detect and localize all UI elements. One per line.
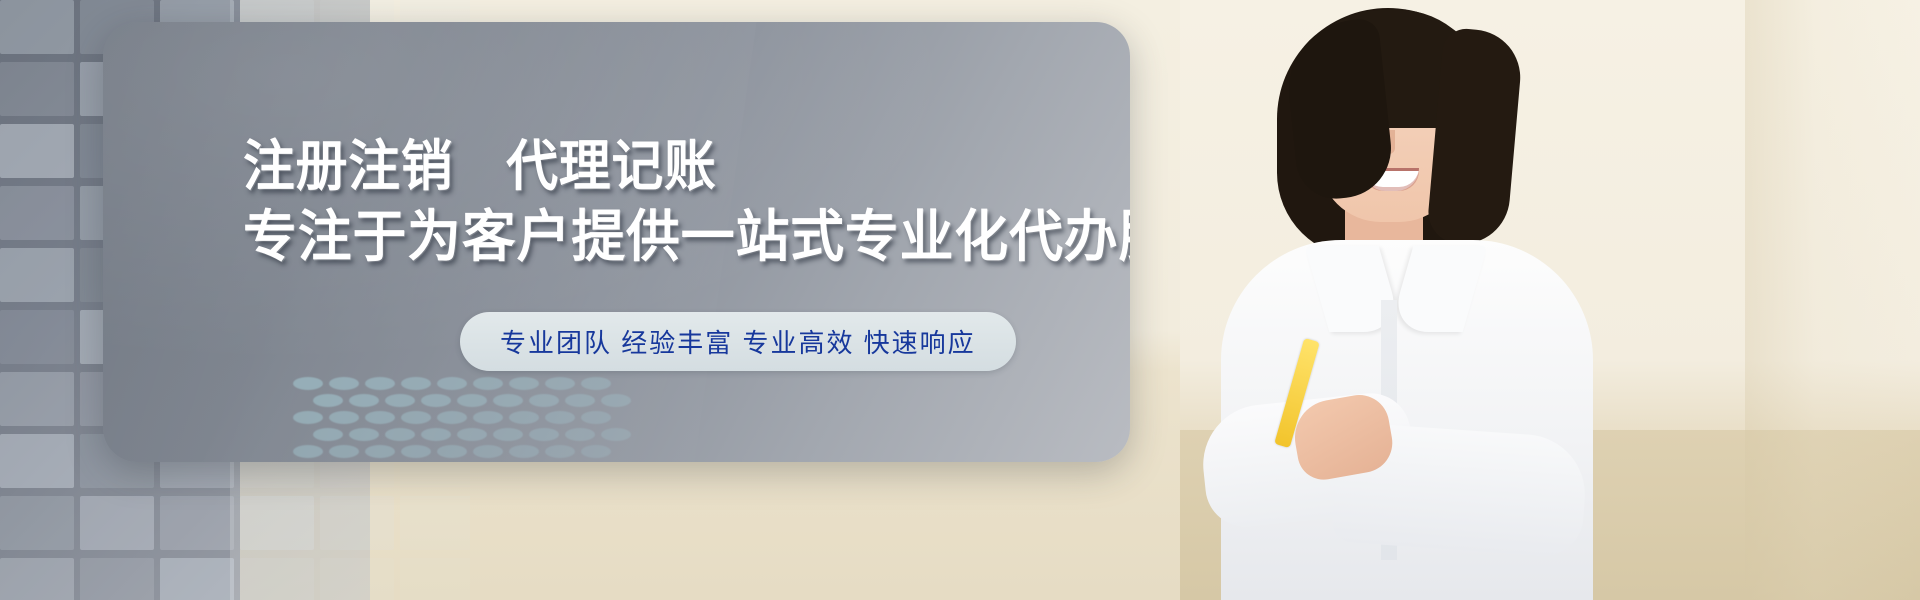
- mosaic-tile: [240, 496, 314, 550]
- decorative-dot: [313, 428, 343, 441]
- decorative-dot: [565, 394, 595, 407]
- decorative-dot: [545, 445, 575, 458]
- decorative-dot: [601, 428, 631, 441]
- promo-banner: 注册注销 代理记账 专注于为客户提供一站式专业化代办服务 专业团队 经验丰富 专…: [0, 0, 1920, 600]
- decorative-dot: [437, 411, 467, 424]
- decorative-dot: [437, 445, 467, 458]
- decorative-dot: [365, 377, 395, 390]
- mosaic-tile: [400, 558, 470, 600]
- mosaic-tile: [0, 186, 74, 240]
- decorative-dot: [385, 394, 415, 407]
- mosaic-tile: [0, 372, 74, 426]
- mosaic-tile: [160, 496, 234, 550]
- decorative-dot: [509, 445, 539, 458]
- decorative-dot: [601, 394, 631, 407]
- decorative-dot: [565, 428, 595, 441]
- mosaic-tile: [80, 496, 154, 550]
- mosaic-tile: [0, 124, 74, 178]
- decorative-dot: [457, 394, 487, 407]
- decorative-dot: [365, 445, 395, 458]
- decorative-dot: [509, 411, 539, 424]
- decorative-dot: [493, 428, 523, 441]
- headline-line-1: 注册注销 代理记账: [243, 138, 1130, 194]
- decorative-dot: [545, 411, 575, 424]
- mosaic-tile: [320, 558, 394, 600]
- decorative-dot: [473, 377, 503, 390]
- mosaic-tile: [0, 558, 74, 600]
- mosaic-tile: [0, 62, 74, 116]
- decorative-dot: [421, 394, 451, 407]
- decorative-dot: [385, 428, 415, 441]
- decorative-dot: [421, 428, 451, 441]
- tagline-pill: 专业团队 经验丰富 专业高效 快速响应: [460, 312, 1016, 371]
- headline-block: 注册注销 代理记账 专注于为客户提供一站式专业化代办服务: [243, 138, 1130, 265]
- decorative-dot: [329, 377, 359, 390]
- decorative-dot: [581, 411, 611, 424]
- mosaic-tile: [400, 496, 470, 550]
- headline-card: 注册注销 代理记账 专注于为客户提供一站式专业化代办服务 专业团队 经验丰富 专…: [103, 22, 1130, 462]
- tagline-text: 专业团队 经验丰富 专业高效 快速响应: [500, 323, 976, 360]
- decorative-dot: [313, 394, 343, 407]
- decorative-dot: [529, 428, 559, 441]
- decorative-dot: [293, 445, 323, 458]
- decorative-dot: [349, 394, 379, 407]
- mosaic-tile: [160, 558, 234, 600]
- decorative-dot: [401, 445, 431, 458]
- mosaic-tile: [0, 248, 74, 302]
- decorative-dot: [401, 411, 431, 424]
- decorative-dot: [581, 445, 611, 458]
- mosaic-tile: [320, 496, 394, 550]
- decorative-dot: [545, 377, 575, 390]
- decorative-dot: [473, 411, 503, 424]
- decorative-dot: [329, 411, 359, 424]
- headline-line-2: 专注于为客户提供一站式专业化代办服务: [243, 208, 1130, 265]
- businesswoman-photo: [1185, 0, 1605, 600]
- decorative-dot: [581, 377, 611, 390]
- decorative-dot: [293, 411, 323, 424]
- hair-side-right: [1426, 27, 1524, 248]
- decorative-dot: [509, 377, 539, 390]
- decorative-dot: [529, 394, 559, 407]
- mosaic-tile: [0, 434, 74, 488]
- decorative-dot: [365, 411, 395, 424]
- decorative-dot: [293, 377, 323, 390]
- decorative-dot: [457, 428, 487, 441]
- decorative-dot: [349, 428, 379, 441]
- background-wall-seam: [1745, 0, 1920, 600]
- decorative-dot: [473, 445, 503, 458]
- decorative-dot: [493, 394, 523, 407]
- mosaic-tile: [0, 0, 74, 54]
- mosaic-tile: [0, 310, 74, 364]
- mosaic-tile: [0, 496, 74, 550]
- ellipse-dot-grid-decoration: [293, 377, 623, 462]
- decorative-dot: [401, 377, 431, 390]
- decorative-dot: [329, 445, 359, 458]
- mosaic-tile: [240, 558, 314, 600]
- mosaic-tile: [80, 558, 154, 600]
- hair-sweep-left: [1282, 17, 1396, 202]
- decorative-dot: [437, 377, 467, 390]
